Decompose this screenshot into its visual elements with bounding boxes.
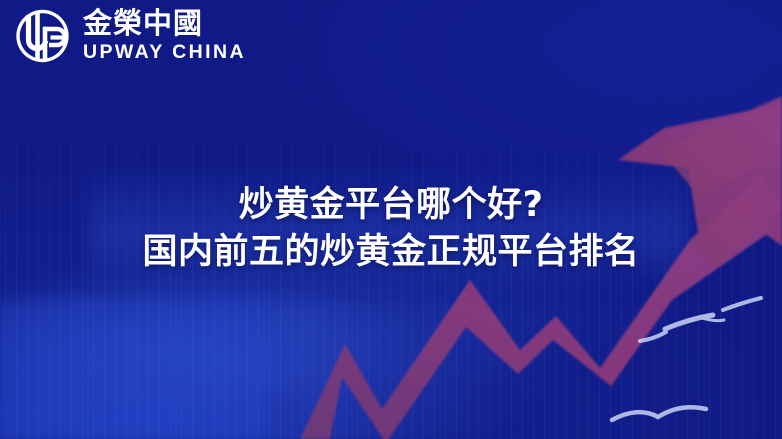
brand-name-chinese: 金榮中國: [83, 9, 246, 38]
page-title: 炒黄金平台哪个好? 国内前五的炒黄金正规平台排名: [0, 182, 782, 276]
bird-lower-center: [612, 412, 658, 420]
headline-line-2: 国内前五的炒黄金正规平台排名: [0, 229, 782, 276]
bird-mid-right: [665, 315, 713, 329]
headline-line-1: 炒黄金平台哪个好?: [0, 182, 782, 229]
upway-circular-monogram-icon: [14, 9, 71, 63]
brand-name-english: UPWAY CHINA: [83, 43, 246, 63]
brand-logo[interactable]: 金榮中國 UPWAY CHINA: [14, 9, 246, 63]
bird-upper-right: [723, 298, 761, 310]
promo-banner: 金榮中國 UPWAY CHINA 炒黄金平台哪个好? 国内前五的炒黄金正规平台排…: [0, 0, 782, 439]
brand-logo-text: 金榮中國 UPWAY CHINA: [83, 9, 246, 63]
